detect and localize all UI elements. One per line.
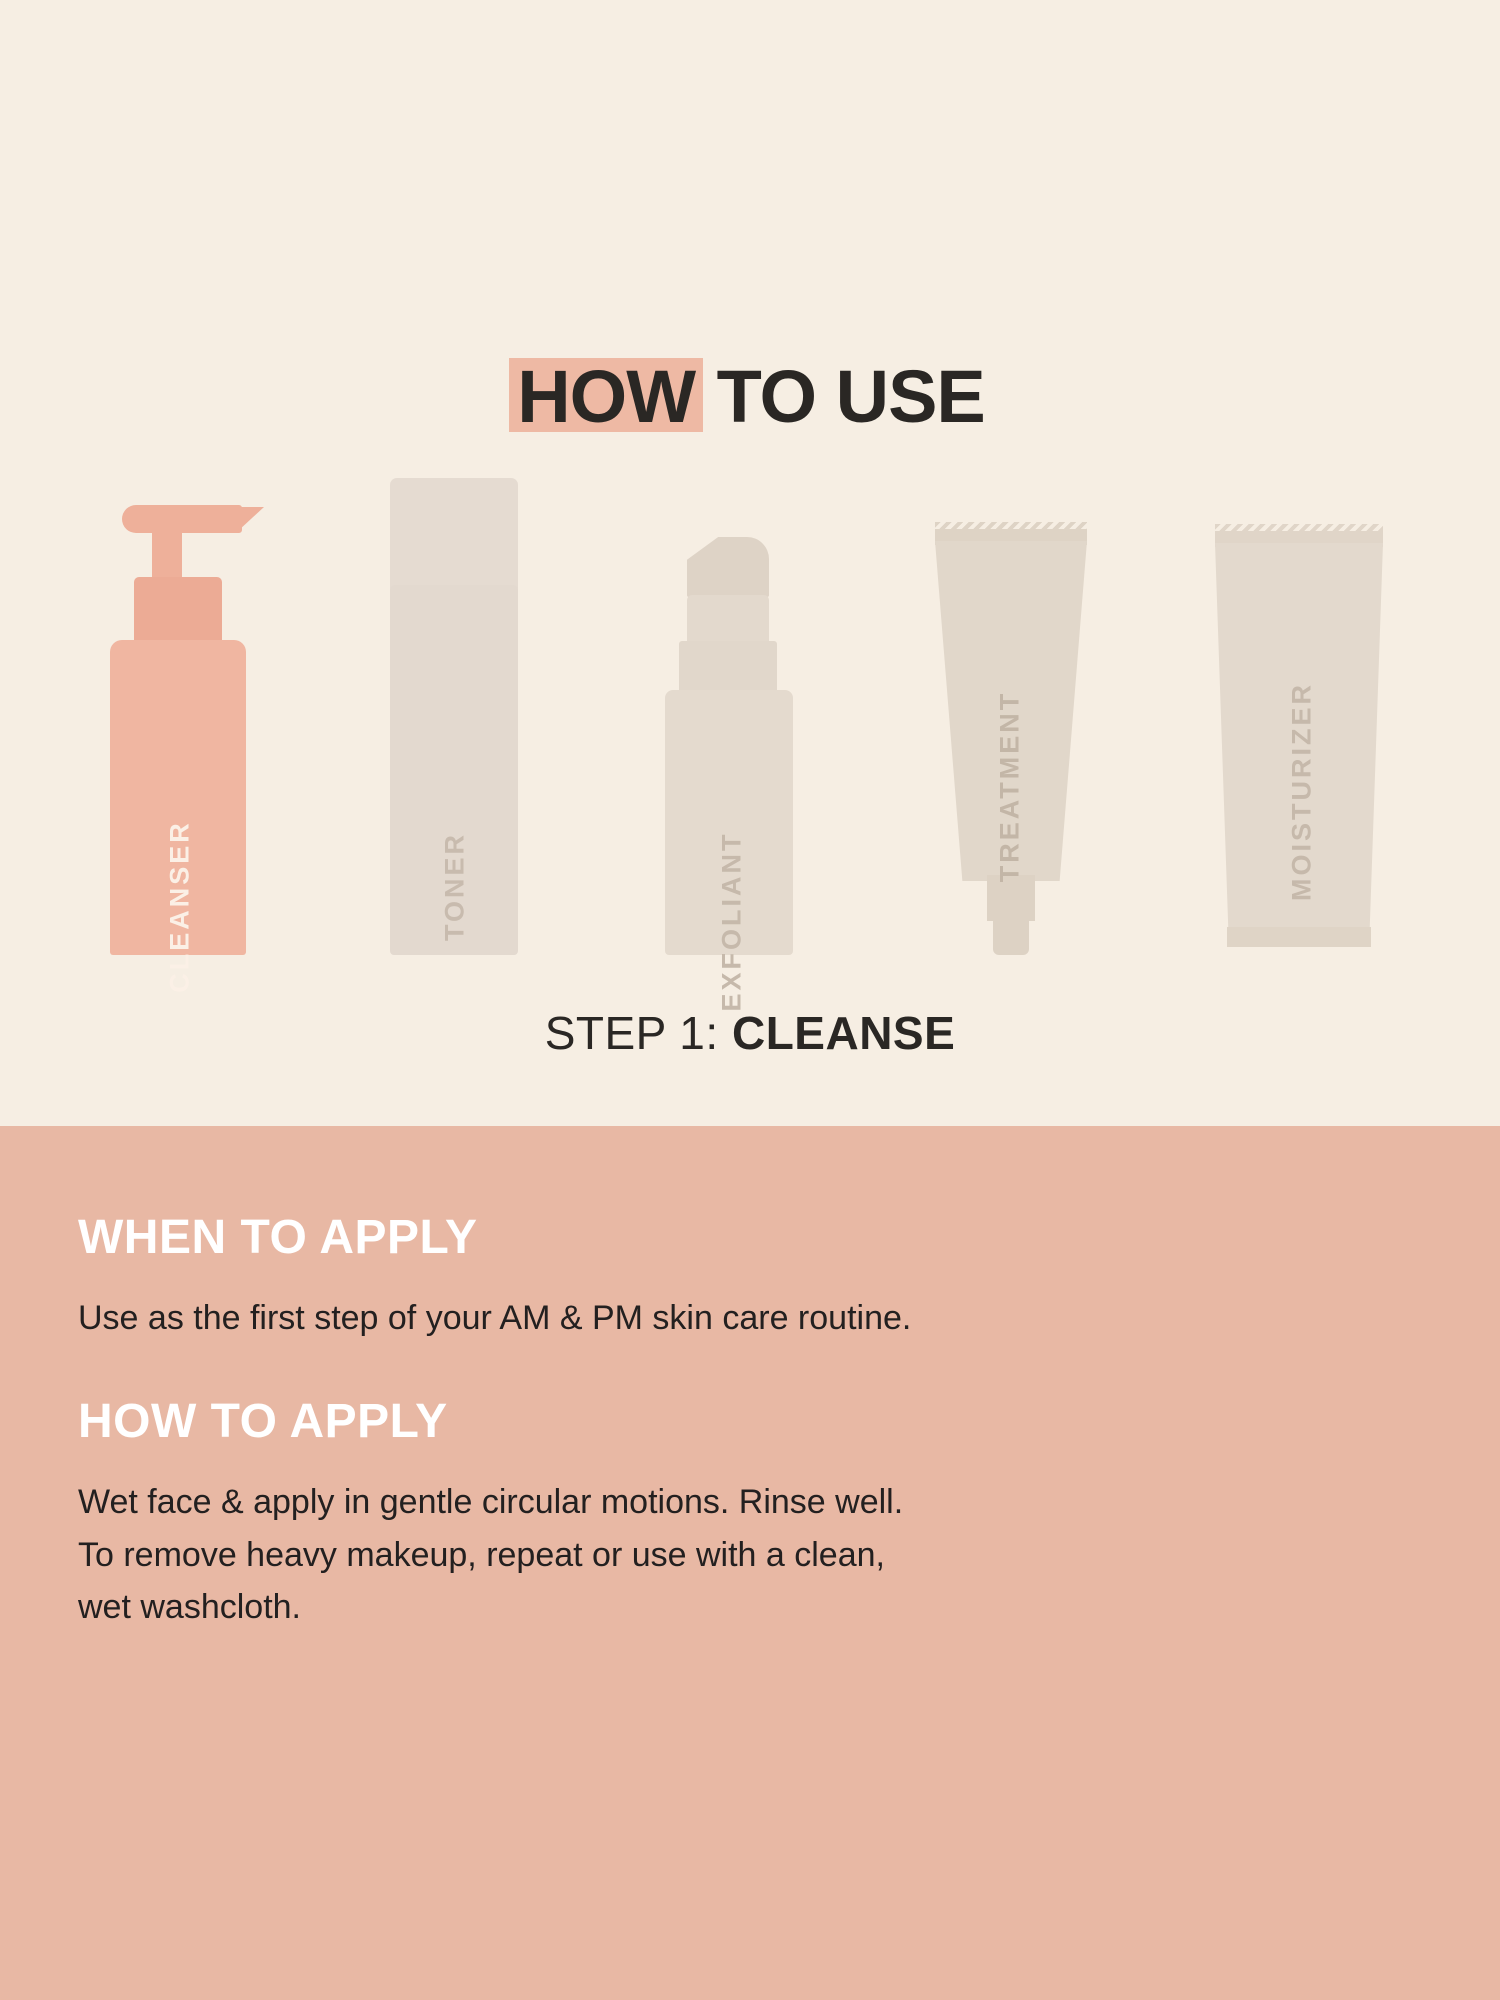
section-how-to-apply: HOW TO APPLY Wet face & apply in gentle … xyxy=(78,1398,903,1634)
bottle-cap-icon xyxy=(390,478,518,593)
step-prefix: STEP 1: xyxy=(545,1007,732,1059)
section-heading-when: WHEN TO APPLY xyxy=(78,1214,911,1262)
section-when-to-apply: WHEN TO APPLY Use as the first step of y… xyxy=(78,1214,911,1345)
pump-head-icon xyxy=(687,537,769,597)
product-label-cleanser: CLEANSER xyxy=(167,792,194,1022)
page-title: HOW TO USE xyxy=(515,360,985,434)
pump-collar-icon xyxy=(134,577,222,643)
product-label-moisturizer: MOISTURIZER xyxy=(1289,677,1316,907)
pump-stem-icon xyxy=(152,523,182,581)
pump-upper-ring-icon xyxy=(687,595,769,643)
pump-nozzle-icon xyxy=(122,505,242,533)
step-line: STEP 1: CLEANSE xyxy=(545,1010,956,1056)
product-label-treatment: TREATMENT xyxy=(997,672,1024,902)
bottom-panel: WHEN TO APPLY Use as the first step of y… xyxy=(0,1126,1500,2000)
tube-base-band-icon xyxy=(1227,927,1371,947)
page-title-wrap: HOW TO USE xyxy=(0,310,1500,483)
product-label-toner: TONER xyxy=(442,772,469,1002)
product-label-exfoliant: EXFOLIANT xyxy=(719,807,746,1037)
step-name: CLEANSE xyxy=(732,1007,955,1059)
title-highlight: HOW xyxy=(515,360,697,434)
product-exfoliant[interactable]: EXFOLIANT xyxy=(665,465,805,955)
title-highlight-text: HOW xyxy=(517,355,695,438)
product-toner[interactable]: TONER xyxy=(390,465,520,955)
section-body-how: Wet face & apply in gentle circular moti… xyxy=(78,1476,903,1634)
step-line-wrap: STEP 1: CLEANSE xyxy=(0,1010,1500,1056)
pump-lower-ring-icon xyxy=(679,641,777,693)
how-to-use-infographic: HOW TO USE CLEANSER TONER xyxy=(0,0,1500,2000)
product-shelf: CLEANSER TONER EXFOLIANT xyxy=(0,465,1500,955)
body-line: Wet face & apply in gentle circular moti… xyxy=(78,1476,903,1529)
section-heading-how: HOW TO APPLY xyxy=(78,1398,903,1446)
top-panel: HOW TO USE CLEANSER TONER xyxy=(0,0,1500,1126)
body-line: To remove heavy makeup, repeat or use wi… xyxy=(78,1529,903,1582)
title-rest: TO USE xyxy=(697,355,985,438)
product-treatment[interactable]: TREATMENT xyxy=(935,465,1095,955)
tube-tip-icon xyxy=(993,917,1029,955)
product-cleanser[interactable]: CLEANSER xyxy=(100,465,250,955)
body-line: wet washcloth. xyxy=(78,1581,903,1634)
product-moisturizer[interactable]: MOISTURIZER xyxy=(1215,465,1390,955)
section-body-when: Use as the first step of your AM & PM sk… xyxy=(78,1292,911,1345)
body-line: Use as the first step of your AM & PM sk… xyxy=(78,1292,911,1345)
